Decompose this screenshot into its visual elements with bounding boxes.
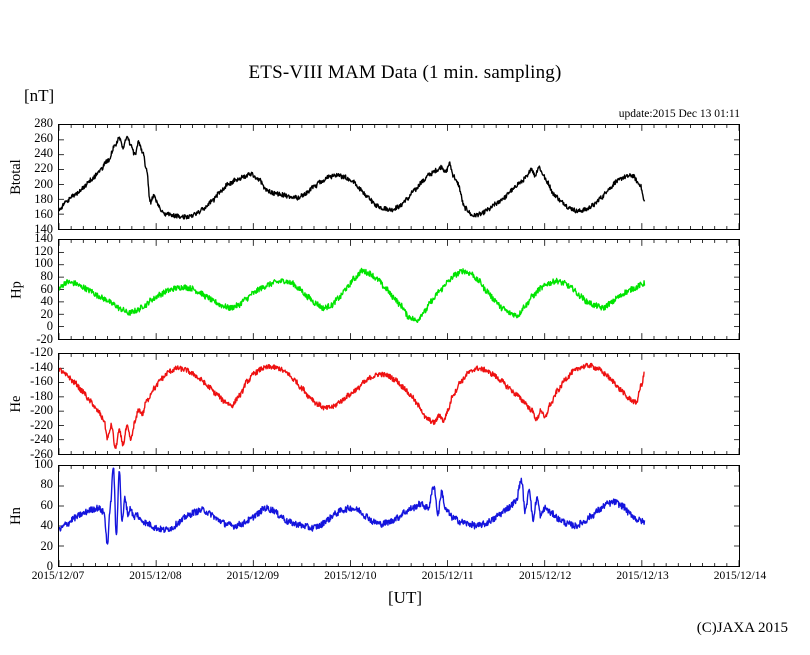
panel-hp	[58, 239, 740, 340]
x-tick-label: 2015/12/11	[422, 570, 474, 582]
plot-canvas: ETS-VIII MAM Data (1 min. sampling) [nT]…	[0, 0, 810, 655]
x-tick-label: 2015/12/14	[714, 570, 766, 582]
x-axis-label: [UT]	[0, 588, 810, 608]
y-axis-label-hn: Hn	[7, 465, 25, 567]
y-axis-label-he: He	[7, 353, 25, 455]
x-tick-label: 2015/12/08	[129, 570, 181, 582]
copyright-notice: (C)JAXA 2015	[697, 620, 788, 637]
update-timestamp: update:2015 Dec 13 01:11	[619, 108, 740, 120]
panel-he	[58, 353, 740, 455]
panel-hn	[58, 465, 740, 567]
x-tick-label: 2015/12/09	[227, 570, 279, 582]
page-title: ETS-VIII MAM Data (1 min. sampling)	[0, 62, 810, 84]
panel-btotal	[58, 124, 740, 230]
y-axis-label-hp: Hp	[7, 239, 25, 340]
x-tick-label: 2015/12/10	[324, 570, 376, 582]
x-tick-label: 2015/12/12	[519, 570, 571, 582]
y-axis-label-btotal: Btotal	[7, 124, 25, 230]
y-unit-label: [nT]	[24, 86, 54, 106]
x-tick-label: 2015/12/13	[616, 570, 668, 582]
x-tick-label: 2015/12/07	[32, 570, 84, 582]
